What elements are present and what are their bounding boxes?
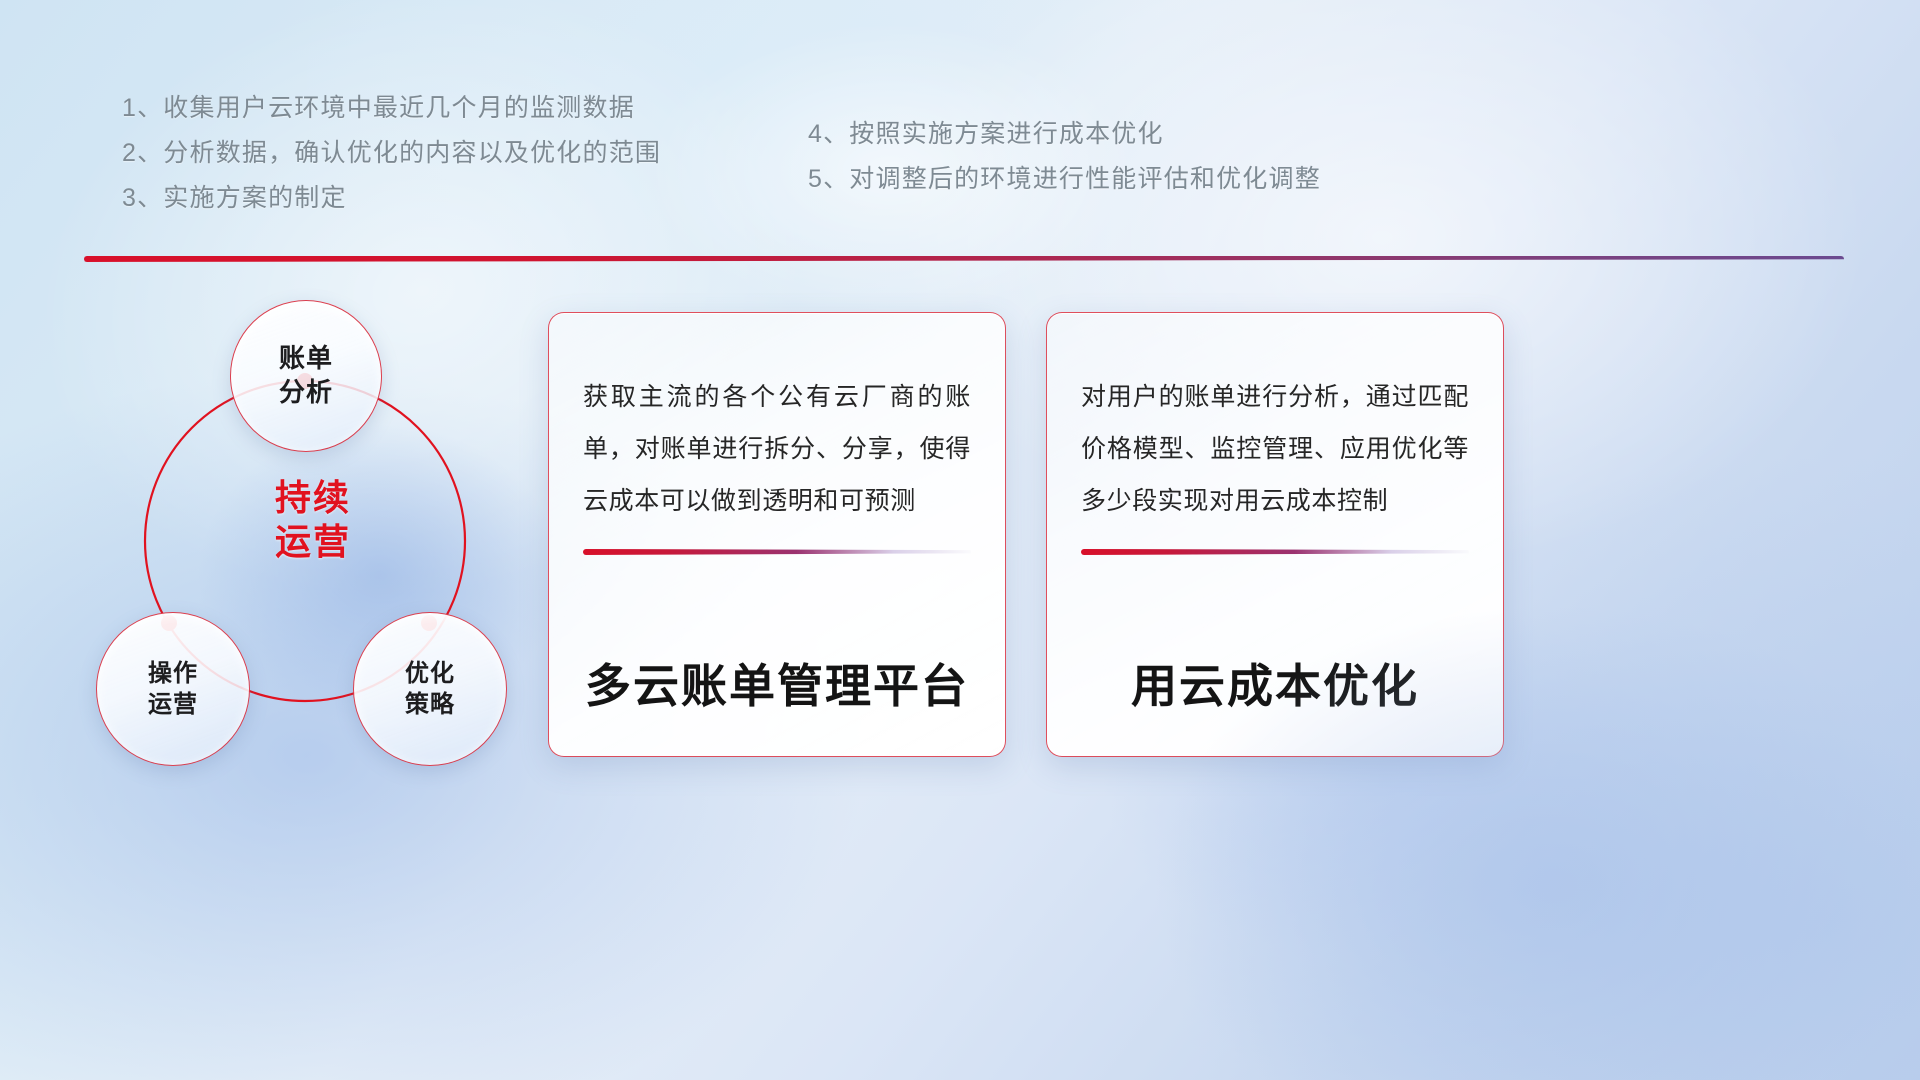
process-step-4: 4、按照实施方案进行成本优化	[808, 122, 1321, 147]
process-step-2: 2、分析数据，确认优化的内容以及优化的范围	[122, 141, 661, 166]
process-steps-list: 1、收集用户云环境中最近几个月的监测数据 2、分析数据，确认优化的内容以及优化的…	[0, 0, 1920, 250]
process-steps-column-left: 1、收集用户云环境中最近几个月的监测数据 2、分析数据，确认优化的内容以及优化的…	[122, 96, 661, 231]
card-1-rule	[583, 549, 971, 555]
card-2-description: 对用户的账单进行分析，通过匹配价格模型、监控管理、应用优化等多少段实现对用云成本…	[1081, 371, 1469, 527]
card-cloud-cost-optimization[interactable]: 对用户的账单进行分析，通过匹配价格模型、监控管理、应用优化等多少段实现对用云成本…	[1046, 312, 1504, 757]
process-step-3: 3、实施方案的制定	[122, 186, 661, 211]
continuous-operation-diagram: 账单分析 操作运营 优化策略 持续运营	[78, 286, 548, 786]
card-1-description: 获取主流的各个公有云厂商的账单，对账单进行拆分、分享，使得云成本可以做到透明和可…	[583, 371, 971, 527]
slide-canvas: 1、收集用户云环境中最近几个月的监测数据 2、分析数据，确认优化的内容以及优化的…	[0, 0, 1920, 1080]
diagram-node-bill-analysis-label: 账单分析	[279, 342, 333, 410]
section-divider-line	[84, 256, 1844, 262]
diagram-node-operation[interactable]: 操作运营	[96, 612, 250, 766]
card-1-title: 多云账单管理平台	[583, 650, 971, 716]
diagram-node-operation-label: 操作运营	[148, 658, 198, 720]
feature-cards: 获取主流的各个公有云厂商的账单，对账单进行拆分、分享，使得云成本可以做到透明和可…	[548, 312, 1504, 757]
card-2-title: 用云成本优化	[1081, 650, 1469, 716]
diagram-center-label: 持续运营	[78, 476, 548, 564]
process-steps-column-right: 4、按照实施方案进行成本优化 5、对调整后的环境进行性能评估和优化调整	[808, 122, 1321, 212]
diagram-node-bill-analysis[interactable]: 账单分析	[230, 300, 382, 452]
card-multicloud-billing-platform[interactable]: 获取主流的各个公有云厂商的账单，对账单进行拆分、分享，使得云成本可以做到透明和可…	[548, 312, 1006, 757]
diagram-node-optimization-strategy-label: 优化策略	[405, 658, 455, 720]
card-2-rule	[1081, 549, 1469, 555]
diagram-node-optimization-strategy[interactable]: 优化策略	[353, 612, 507, 766]
process-step-5: 5、对调整后的环境进行性能评估和优化调整	[808, 167, 1321, 192]
process-step-1: 1、收集用户云环境中最近几个月的监测数据	[122, 96, 661, 121]
